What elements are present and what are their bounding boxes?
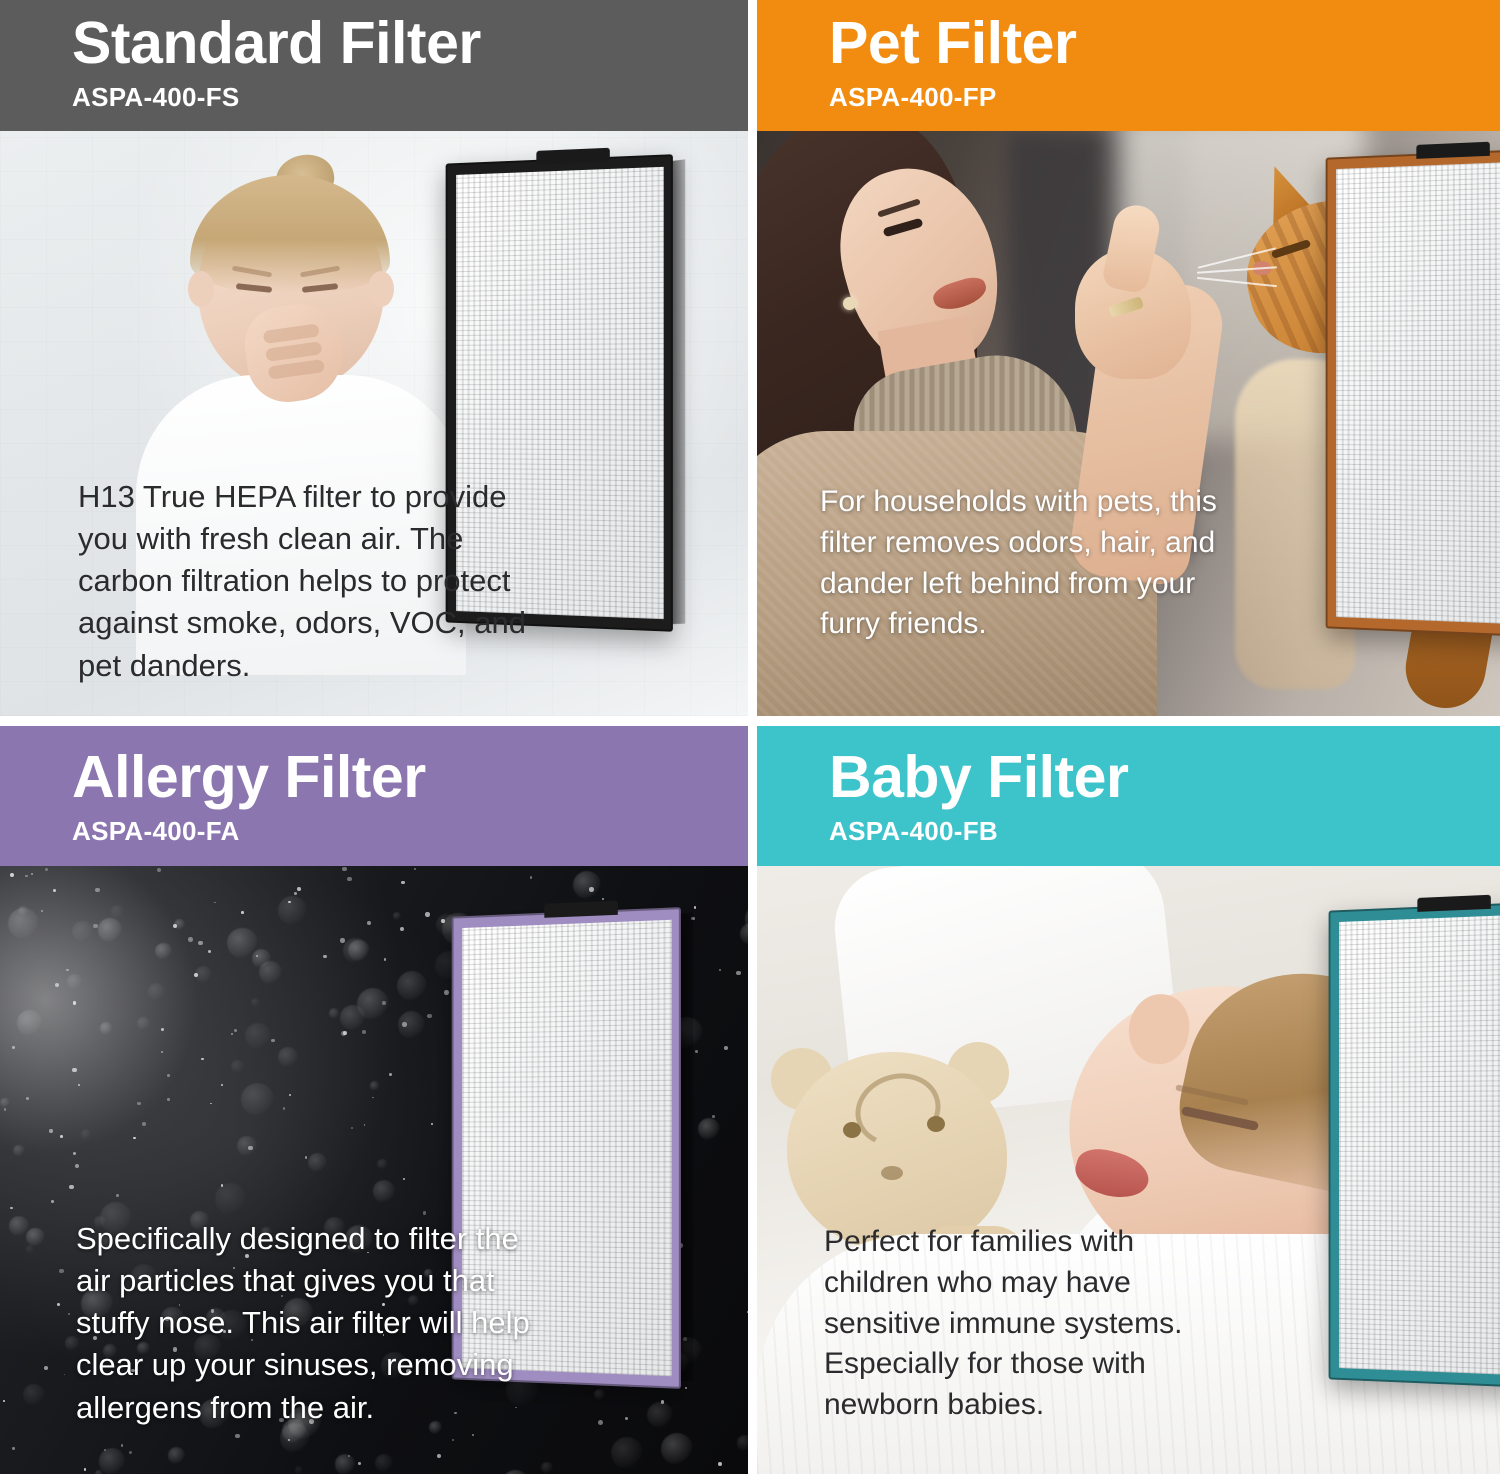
panel-allergy-filter[interactable]: Allergy Filter ASPA-400-FA xyxy=(0,726,748,1474)
dust-speck xyxy=(362,1030,366,1034)
dust-speck xyxy=(318,1373,320,1375)
dust-speck xyxy=(10,873,14,877)
dust-speck xyxy=(602,898,604,900)
dust-speck xyxy=(214,902,216,904)
dust-speck xyxy=(73,1001,77,1005)
dust-speck xyxy=(340,938,345,943)
filter-comparison-grid: Standard Filter ASPA-400-FS xyxy=(0,0,1500,1474)
dust-speck xyxy=(179,1304,181,1306)
panel-baby-header: Baby Filter ASPA-400-FB xyxy=(757,726,1500,866)
dust-speck xyxy=(233,1267,235,1269)
dust-speck xyxy=(348,1455,350,1457)
dust-speck xyxy=(389,1073,392,1076)
panel-baby-filter[interactable]: Baby Filter ASPA-400-FB xyxy=(757,726,1500,1474)
dust-speck xyxy=(45,868,49,872)
dust-bokeh xyxy=(81,1288,113,1320)
dust-bokeh xyxy=(0,1098,9,1107)
dust-speck xyxy=(530,876,533,879)
baby-filter-product[interactable] xyxy=(1329,901,1500,1389)
dust-speck xyxy=(78,1084,80,1086)
dust-speck xyxy=(12,1046,15,1049)
dust-bokeh xyxy=(98,918,122,942)
dust-speck xyxy=(10,1207,12,1209)
dust-speck xyxy=(57,1303,60,1306)
dust-bokeh xyxy=(611,1437,643,1469)
dust-speck xyxy=(26,1097,29,1100)
dust-speck xyxy=(423,1211,427,1215)
dust-speck xyxy=(364,1124,366,1126)
dust-speck xyxy=(73,1152,76,1155)
dust-bokeh xyxy=(237,1136,257,1156)
dust-bokeh xyxy=(26,1245,34,1253)
dust-speck xyxy=(402,1022,407,1027)
panel-allergy-photo xyxy=(0,866,748,1474)
toddler-ear-right xyxy=(368,271,394,307)
dust-speck xyxy=(598,1420,603,1425)
dust-speck xyxy=(234,1029,237,1032)
dust-speck xyxy=(55,983,59,987)
dust-speck xyxy=(383,1334,385,1336)
dust-bokeh xyxy=(261,1227,272,1238)
filter-side-depth xyxy=(681,912,693,1381)
dust-bokeh xyxy=(324,1217,345,1238)
toddler-ear-left xyxy=(188,271,214,307)
dust-speck xyxy=(188,937,193,942)
teddy-nose xyxy=(881,1166,903,1180)
dust-bokeh xyxy=(65,1336,80,1351)
dust-speck xyxy=(173,1347,178,1352)
dust-speck xyxy=(414,868,416,870)
panel-standard-header: Standard Filter ASPA-400-FS xyxy=(0,0,748,131)
dust-speck xyxy=(294,892,297,895)
dust-speck xyxy=(44,1366,49,1371)
dust-speck xyxy=(724,1046,728,1050)
panel-standard-title: Standard Filter xyxy=(72,14,748,73)
dust-speck xyxy=(279,1418,283,1422)
pet-filter-product[interactable] xyxy=(1326,148,1500,638)
dust-bokeh xyxy=(111,905,124,918)
dust-speck xyxy=(437,1454,441,1458)
toddler-shirt xyxy=(136,375,466,675)
dust-speck xyxy=(210,1103,212,1105)
dust-bokeh xyxy=(103,1344,117,1358)
panel-standard-photo xyxy=(0,131,748,716)
dust-bokeh xyxy=(698,1118,721,1141)
filter-side-depth xyxy=(673,159,685,624)
dust-bokeh xyxy=(8,908,39,939)
dust-bokeh xyxy=(573,871,601,899)
dust-speck xyxy=(3,1400,5,1402)
dust-bokeh xyxy=(343,938,368,963)
dust-speck xyxy=(142,1122,146,1126)
dust-bokeh xyxy=(194,1334,221,1361)
dust-speck xyxy=(358,1462,361,1465)
dust-bokeh xyxy=(335,1454,355,1474)
dust-speck xyxy=(121,1444,123,1446)
dust-bokeh xyxy=(647,1402,673,1428)
dust-bokeh xyxy=(381,1352,409,1380)
dust-speck xyxy=(661,1400,664,1403)
dust-speck xyxy=(400,927,404,931)
panel-baby-sku: ASPA-400-FB xyxy=(829,818,1500,844)
dust-speck xyxy=(25,875,28,878)
dust-bokeh xyxy=(502,1470,529,1474)
dust-bokeh xyxy=(155,943,171,959)
dust-speck xyxy=(342,867,346,871)
dust-bokeh xyxy=(377,1159,387,1169)
teddy-eye-left xyxy=(843,1122,861,1138)
finger xyxy=(268,359,325,380)
dust-speck xyxy=(351,1127,353,1129)
dust-speck xyxy=(718,1462,723,1467)
filter-mesh xyxy=(456,167,664,619)
dust-speck xyxy=(367,1252,369,1254)
dust-bokeh xyxy=(174,919,186,931)
dust-speck xyxy=(222,1362,224,1364)
dust-bokeh xyxy=(373,1180,396,1203)
dust-speck xyxy=(95,888,99,892)
teddy-eye-right xyxy=(927,1116,945,1132)
dust-bokeh xyxy=(131,1264,158,1291)
dust-speck xyxy=(736,971,740,975)
dust-speck xyxy=(712,1115,715,1118)
dust-speck xyxy=(4,1108,7,1111)
filter-pull-tab xyxy=(536,148,610,165)
toddler-figure xyxy=(150,155,450,655)
dust-speck xyxy=(104,1449,106,1451)
dust-speck xyxy=(515,1407,517,1409)
dust-bokeh xyxy=(199,1399,230,1430)
panel-allergy-title: Allergy Filter xyxy=(72,748,748,807)
dust-speck xyxy=(445,1329,448,1332)
dust-speck xyxy=(68,1313,70,1315)
dust-bokeh xyxy=(370,1081,380,1091)
dust-bokeh xyxy=(429,1421,442,1434)
finger xyxy=(265,341,322,362)
dust-speck xyxy=(454,1412,457,1415)
dust-speck xyxy=(198,941,203,946)
dust-bokeh xyxy=(397,971,427,1001)
dust-speck xyxy=(472,1434,474,1436)
dust-speck xyxy=(271,1039,274,1042)
dust-bokeh xyxy=(594,1389,605,1400)
dust-speck xyxy=(719,969,721,971)
dust-bokeh xyxy=(278,896,307,925)
dust-speck xyxy=(384,958,387,961)
panel-pet-filter[interactable]: Pet Filter ASPA-400-FP xyxy=(757,0,1500,716)
dust-speck xyxy=(625,1417,628,1420)
dust-speck xyxy=(84,1468,86,1470)
dust-bokeh xyxy=(137,1017,150,1030)
dust-bokeh xyxy=(67,974,82,989)
panel-standard-filter[interactable]: Standard Filter ASPA-400-FS xyxy=(0,0,748,716)
dust-speck xyxy=(403,1178,405,1180)
dust-bokeh xyxy=(329,1008,339,1018)
dust-bokeh xyxy=(424,1269,433,1278)
dust-bokeh xyxy=(737,1435,748,1451)
dust-speck xyxy=(211,1401,213,1403)
dust-speck xyxy=(305,1156,307,1158)
dust-speck xyxy=(221,1184,223,1186)
dust-bokeh xyxy=(375,1454,393,1472)
dust-bokeh xyxy=(26,1228,44,1246)
dust-bokeh xyxy=(99,1448,126,1474)
dust-bokeh xyxy=(100,1022,113,1035)
dust-speck xyxy=(131,1369,134,1372)
dust-bokeh xyxy=(17,1010,43,1036)
dust-bokeh xyxy=(245,1023,271,1049)
dust-speck xyxy=(201,1058,204,1061)
filter-pull-tab xyxy=(1416,142,1490,159)
dust-speck xyxy=(161,1051,163,1053)
dust-speck xyxy=(51,1200,54,1203)
dust-bokeh xyxy=(340,1005,366,1031)
dust-speck xyxy=(157,868,161,872)
dust-speck xyxy=(347,877,352,882)
dust-bokeh xyxy=(148,983,165,1000)
dust-speck xyxy=(382,1303,385,1306)
dust-speck xyxy=(452,1439,455,1442)
dust-bokeh xyxy=(168,1447,185,1464)
dust-speck xyxy=(694,906,696,908)
dust-speck xyxy=(367,921,371,925)
dust-bokeh xyxy=(231,1060,245,1074)
dust-speck xyxy=(93,1336,97,1340)
dust-speck xyxy=(401,881,404,884)
dust-speck xyxy=(167,1098,170,1101)
dust-speck xyxy=(589,887,594,892)
dust-bokeh xyxy=(308,1153,327,1172)
dust-bokeh xyxy=(393,912,401,920)
dust-bokeh xyxy=(81,1129,92,1140)
dust-speck xyxy=(127,1369,129,1371)
dust-bokeh xyxy=(241,1083,274,1116)
dust-speck xyxy=(53,889,56,892)
filter-mesh xyxy=(1336,161,1500,626)
panel-standard-sku: ASPA-400-FS xyxy=(72,84,748,110)
dust-speck xyxy=(695,1050,698,1053)
filter-pull-tab xyxy=(1417,895,1490,912)
toddler-hair xyxy=(190,175,390,293)
panel-pet-header: Pet Filter ASPA-400-FP xyxy=(757,0,1500,131)
dust-speck xyxy=(221,1084,223,1086)
dust-speck xyxy=(281,1295,284,1298)
dust-bokeh xyxy=(282,1419,306,1443)
panel-allergy-header: Allergy Filter ASPA-400-FA xyxy=(0,726,748,866)
dust-bokeh xyxy=(99,1234,113,1248)
dust-speck xyxy=(129,1451,132,1454)
dust-speck xyxy=(747,1311,748,1313)
dust-bokeh xyxy=(541,1462,552,1473)
dust-bokeh xyxy=(215,1183,246,1214)
dust-speck xyxy=(31,873,33,875)
dust-bokeh xyxy=(295,1466,304,1474)
panel-baby-title: Baby Filter xyxy=(829,748,1500,807)
finger xyxy=(263,323,320,344)
dust-speck xyxy=(161,1028,164,1031)
dust-bokeh xyxy=(345,1225,374,1254)
dust-speck xyxy=(283,1107,285,1109)
dust-speck xyxy=(133,1137,135,1139)
dust-speck xyxy=(167,1074,170,1077)
dust-speck xyxy=(427,1234,429,1236)
dust-speck xyxy=(289,1094,291,1096)
dust-speck xyxy=(248,1146,252,1150)
dust-speck xyxy=(427,1014,432,1019)
dust-bokeh xyxy=(195,966,213,984)
dust-bokeh xyxy=(23,1384,45,1406)
dust-speck xyxy=(251,1339,253,1341)
dust-bokeh xyxy=(190,1211,209,1230)
dust-bokeh xyxy=(137,1342,150,1355)
dust-speck xyxy=(323,955,327,959)
panel-baby-photo xyxy=(757,866,1500,1474)
panel-allergy-sku: ASPA-400-FA xyxy=(72,818,748,844)
dust-speck xyxy=(208,950,211,953)
dust-bokeh xyxy=(661,1433,694,1466)
dust-speck xyxy=(59,1269,63,1273)
standard-filter-product[interactable] xyxy=(446,154,673,632)
dust-bokeh xyxy=(283,1298,313,1328)
dust-speck xyxy=(64,1374,66,1376)
dust-speck xyxy=(297,887,301,891)
dust-speck xyxy=(343,1031,347,1035)
dust-bokeh xyxy=(251,998,260,1007)
filter-mesh xyxy=(1339,914,1500,1376)
dust-speck xyxy=(66,969,68,971)
dust-speck xyxy=(241,911,244,914)
filter-pull-tab xyxy=(544,901,618,918)
dust-bokeh xyxy=(408,1295,420,1307)
dust-speck xyxy=(372,1097,374,1099)
panel-pet-sku: ASPA-400-FP xyxy=(829,84,1500,110)
dust-speck xyxy=(69,1185,73,1189)
filter-mesh xyxy=(462,920,672,1376)
panel-pet-title: Pet Filter xyxy=(829,14,1500,73)
earring xyxy=(843,297,856,310)
dust-speck xyxy=(231,1033,233,1035)
panel-pet-photo xyxy=(757,131,1500,716)
dust-speck xyxy=(72,1068,76,1072)
dust-speck xyxy=(425,912,430,917)
dust-bokeh xyxy=(278,1047,298,1067)
dust-speck xyxy=(93,924,97,928)
allergy-filter-product[interactable] xyxy=(452,907,681,1389)
dust-speck xyxy=(137,1102,141,1106)
dust-speck xyxy=(444,990,449,995)
dust-speck xyxy=(245,1254,249,1258)
dust-speck xyxy=(685,1387,687,1389)
dust-speck xyxy=(235,1434,239,1438)
dust-speck xyxy=(75,1164,79,1168)
dust-speck xyxy=(12,1447,14,1449)
dust-speck xyxy=(60,1135,63,1138)
dust-bokeh xyxy=(72,921,93,942)
dust-speck xyxy=(49,1129,53,1133)
dust-speck xyxy=(116,1194,119,1197)
dust-bokeh xyxy=(13,1145,25,1157)
dust-speck xyxy=(431,1123,433,1125)
dust-speck xyxy=(41,910,43,912)
